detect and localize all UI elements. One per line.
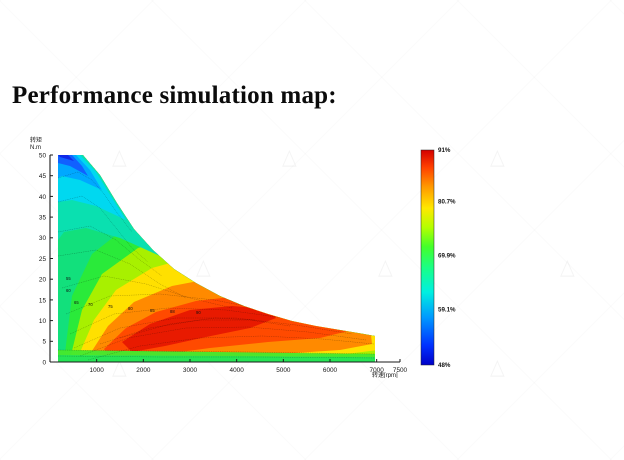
- colorbar-tick-label: 80.7%: [438, 199, 456, 206]
- x-axis-title: 转速[rpm]: [372, 371, 398, 378]
- y-tick-label: 50: [39, 152, 47, 159]
- svg-text:65: 65: [74, 300, 79, 305]
- y-tick-label: 30: [39, 235, 47, 242]
- y-tick-label: 45: [39, 173, 47, 180]
- page-title: Performance simulation map:: [12, 82, 337, 110]
- svg-text:75: 75: [108, 304, 113, 309]
- y-axis-title-line2: N.m: [30, 145, 41, 151]
- y-tick-label: 0: [42, 359, 46, 366]
- colorbar-tick-label: 69.9%: [438, 253, 456, 260]
- performance-simulation-chart: 55 60 65 70 75 80 85 88 90 0510152025303…: [0, 128, 500, 378]
- svg-text:90: 90: [196, 310, 201, 315]
- colorbar: 91%80.7%69.9%59.1%48%: [421, 147, 456, 369]
- contour-plot-svg: 55 60 65 70 75 80 85 88 90 0510152025303…: [0, 128, 500, 378]
- x-tick-label: 1000: [90, 367, 105, 374]
- watermark-glyph: △: [560, 254, 573, 280]
- contour-fill-group: [50, 148, 396, 373]
- y-tick-label: 25: [39, 256, 47, 263]
- y-tick-label: 40: [39, 194, 47, 201]
- y-tick-label: 20: [39, 277, 47, 284]
- svg-text:70: 70: [88, 302, 93, 307]
- svg-text:55: 55: [66, 276, 71, 281]
- x-tick-label: 3000: [183, 367, 198, 374]
- y-tick-label: 10: [39, 318, 47, 325]
- y-tick-label: 5: [42, 339, 46, 346]
- colorbar-ticks: 91%80.7%69.9%59.1%48%: [438, 147, 456, 369]
- y-axis-title-line1: 转矩: [30, 136, 42, 144]
- colorbar-tick-label: 59.1%: [438, 307, 456, 314]
- y-tick-label: 35: [39, 215, 47, 222]
- x-tick-label: 2000: [136, 367, 151, 374]
- x-tick-label: 5000: [276, 367, 291, 374]
- svg-text:60: 60: [66, 288, 71, 293]
- x-tick-label: 6000: [323, 367, 338, 374]
- svg-text:80: 80: [128, 306, 133, 311]
- colorbar-tick-label: 48%: [438, 362, 451, 369]
- svg-text:88: 88: [170, 309, 175, 314]
- colorbar-gradient: [421, 150, 434, 365]
- svg-text:85: 85: [150, 308, 155, 313]
- colorbar-tick-label: 91%: [438, 147, 451, 154]
- y-axis-ticks: 05101520253035404550: [39, 152, 53, 366]
- y-tick-label: 15: [39, 297, 47, 304]
- x-tick-label: 4000: [230, 367, 245, 374]
